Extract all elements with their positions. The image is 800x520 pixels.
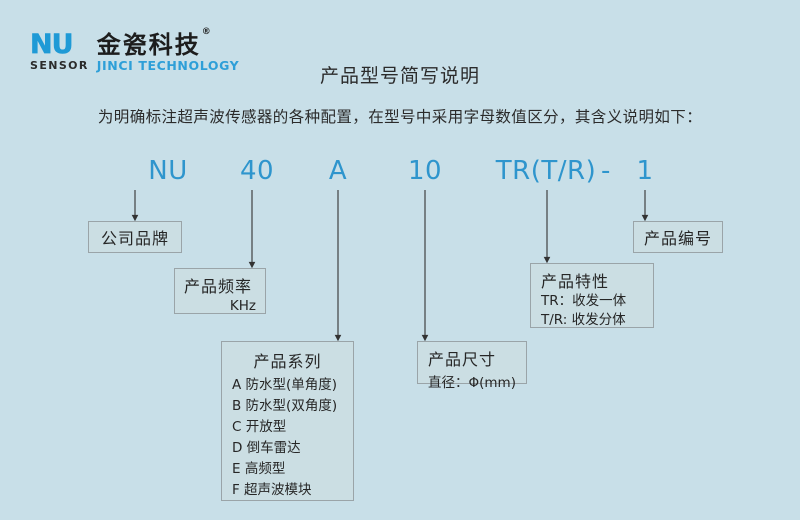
page-subtitle: 为明确标注超声波传感器的各种配置，在型号中采用字母数值区分，其含义说明如下： xyxy=(0,105,800,127)
model-token-brand: NU xyxy=(148,156,187,186)
model-token-dash: - xyxy=(601,156,611,186)
series-item-d: D 倒车雷达 xyxy=(232,440,301,456)
model-token-feature: TR(T/R) xyxy=(496,156,596,186)
callout-title-frequency: 产品频率 xyxy=(184,273,256,297)
series-item-a: A 防水型(单角度) xyxy=(232,377,337,393)
callout-title-serial: 产品编号 xyxy=(644,225,712,249)
callout-title-brand: 公司品牌 xyxy=(101,225,169,249)
callout-box-brand: 公司品牌 xyxy=(88,221,182,253)
logo-nu-text: NU xyxy=(30,32,73,58)
callout-sub-frequency: KHz xyxy=(184,298,256,314)
registered-trademark-icon: ® xyxy=(202,27,213,37)
callout-box-feature: 产品特性 TR：收发一体 T/R: 收发分体 xyxy=(530,263,654,328)
series-item-c: C 开放型 xyxy=(232,419,286,435)
model-token-size: 10 xyxy=(408,156,442,186)
callout-box-serial: 产品编号 xyxy=(633,221,723,253)
feature-item-tr: TR：收发一体 xyxy=(541,292,643,311)
model-token-series: A xyxy=(329,156,347,186)
callout-title-feature: 产品特性 xyxy=(541,268,643,292)
callout-sub-size: 直径：Φ(mm) xyxy=(428,371,516,391)
model-token-frequency: 40 xyxy=(240,156,274,186)
feature-item-t-r: T/R: 收发分体 xyxy=(541,311,643,330)
model-token-serial: 1 xyxy=(636,156,653,186)
logo-brand-cn-text: 金瓷科技 xyxy=(97,31,201,59)
series-item-f: F 超声波模块 xyxy=(232,482,312,498)
callout-title-series: 产品系列 xyxy=(232,348,343,372)
callout-box-series: 产品系列 A 防水型(单角度) B 防水型(双角度) C 开放型 D 倒车雷达 … xyxy=(221,341,354,501)
diagram-canvas: NU SENSOR 金瓷科技® JINCI TECHNOLOGY 产品型号简写说… xyxy=(0,0,800,520)
page-title: 产品型号简写说明 xyxy=(0,61,800,88)
callout-title-size: 产品尺寸 xyxy=(428,346,516,370)
logo-brand-cn: 金瓷科技® xyxy=(97,32,212,58)
series-item-b: B 防水型(双角度) xyxy=(232,398,337,414)
callout-box-frequency: 产品频率 KHz xyxy=(174,268,266,314)
series-item-e: E 高频型 xyxy=(232,461,285,477)
callout-box-size: 产品尺寸 直径：Φ(mm) xyxy=(417,341,527,384)
